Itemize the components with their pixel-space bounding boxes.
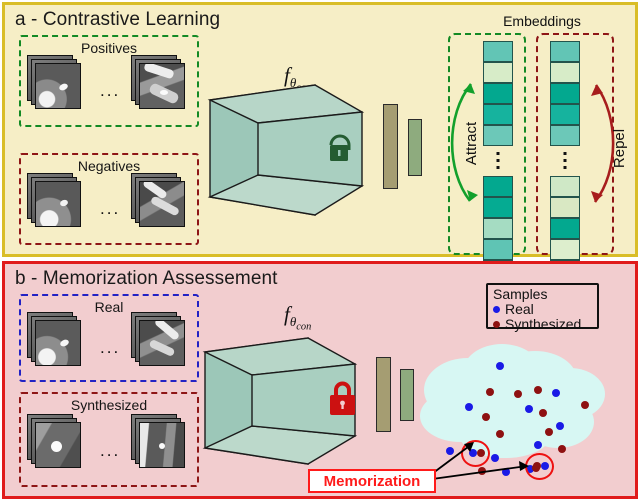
memorization-callout-label: Memorization [308,469,436,493]
figure-root: a - Contrastive Learning Positives ... [0,0,640,501]
memorization-arrows [5,264,640,501]
panel-contrastive-learning: a - Contrastive Learning Positives ... [2,2,638,257]
repel-arrow [5,5,640,260]
panel-memorization-assessment: b - Memorization Assessement Real ... [2,261,638,499]
repel-label: Repel [611,129,628,168]
